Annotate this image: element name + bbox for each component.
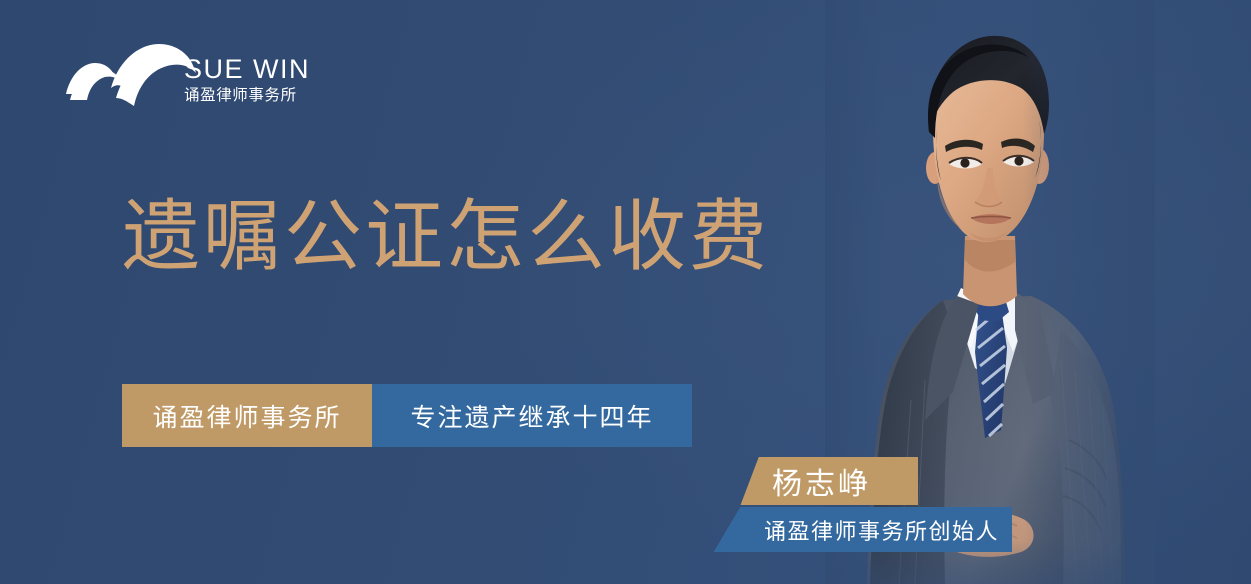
tagline-firm: 诵盈律师事务所 [122,384,372,447]
promo-banner: SUE WIN 诵盈律师事务所 遗嘱公证怎么收费 诵盈律师事务所 专注遗产继承十… [0,0,1251,584]
brand-logo[interactable]: SUE WIN 诵盈律师事务所 [64,34,324,112]
logo-chinese-name: 诵盈律师事务所 [184,86,344,105]
tagline-specialty: 专注遗产继承十四年 [372,384,692,447]
page-title: 遗嘱公证怎么收费 [122,196,770,279]
wave-mark-icon [64,36,196,108]
logo-english-name: SUE WIN [184,56,344,84]
logo-text-block: SUE WIN 诵盈律师事务所 [184,56,344,104]
tagline-bar: 诵盈律师事务所 专注遗产继承十四年 [122,384,692,447]
lawyer-name-plate: 杨志峥 [730,457,918,505]
lawyer-title-plate: 诵盈律师事务所创始人 [706,507,1012,552]
